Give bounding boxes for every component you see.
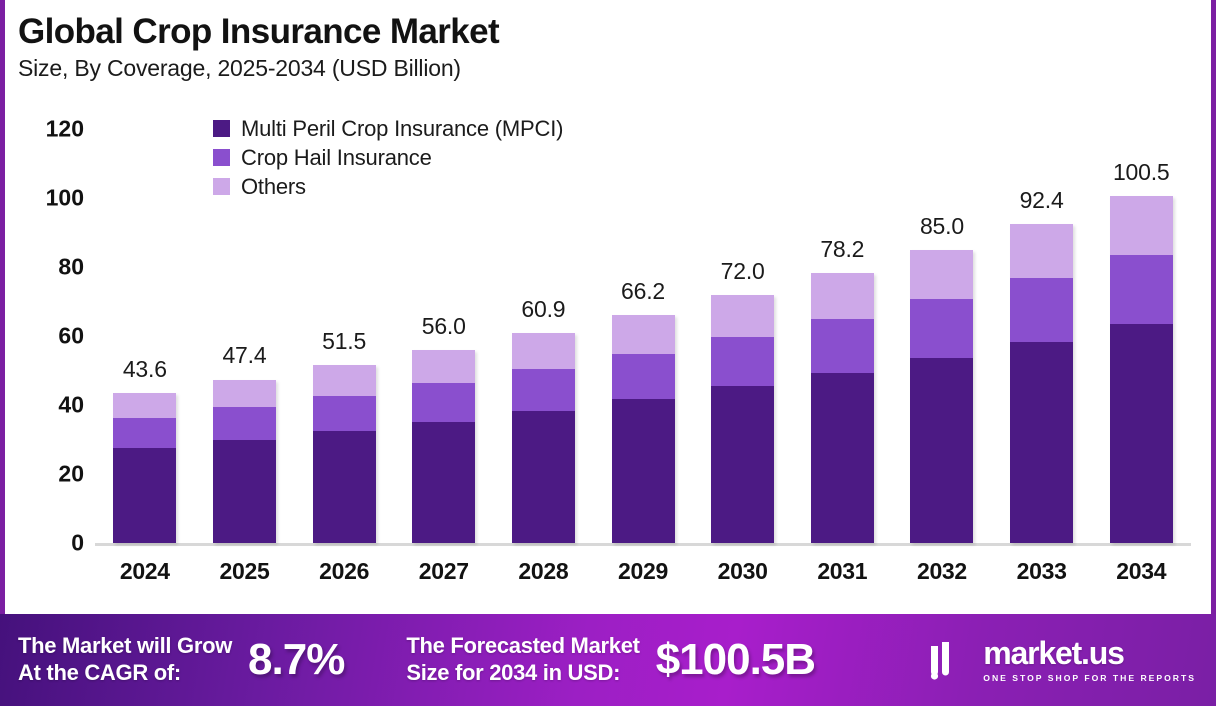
bar-segment[interactable] — [711, 386, 774, 543]
market-us-mark-icon — [927, 640, 971, 680]
x-axis-baseline — [95, 543, 1191, 546]
bar-segment[interactable] — [512, 411, 575, 543]
logo-name: market.us — [983, 637, 1196, 669]
x-axis-tick-label: 2032 — [892, 558, 992, 585]
bar-segment[interactable] — [612, 399, 675, 543]
x-axis-tick-label: 2024 — [95, 558, 195, 585]
legend-swatch-icon — [213, 178, 230, 195]
bar-total-label: 85.0 — [920, 213, 964, 240]
bar-segment[interactable] — [910, 250, 973, 299]
bar-segment[interactable] — [113, 393, 176, 419]
x-axis-labels: 2024202520262027202820292030203120322033… — [95, 558, 1191, 585]
stacked-bar[interactable] — [412, 350, 475, 543]
stacked-bar[interactable] — [910, 250, 973, 543]
bar-segment[interactable] — [612, 315, 675, 354]
bar-column[interactable]: 92.4 — [992, 129, 1092, 543]
y-axis-tick-label: 80 — [58, 254, 84, 281]
bar-column[interactable]: 85.0 — [892, 129, 992, 543]
x-axis-tick-label: 2030 — [693, 558, 793, 585]
y-axis-tick-label: 40 — [58, 392, 84, 419]
bar-segment[interactable] — [910, 358, 973, 543]
stacked-bar[interactable] — [711, 295, 774, 543]
bar-total-label: 92.4 — [1020, 187, 1064, 214]
forecast-caption-line1: The Forecasted Market — [406, 633, 639, 658]
bar-segment[interactable] — [113, 448, 176, 543]
bar-segment[interactable] — [711, 337, 774, 387]
bar-segment[interactable] — [1110, 255, 1173, 324]
bar-segment[interactable] — [1110, 324, 1173, 543]
right-accent-border — [1211, 0, 1216, 614]
legend-swatch-icon — [213, 149, 230, 166]
stacked-bar[interactable] — [512, 333, 575, 543]
x-axis-tick-label: 2025 — [195, 558, 295, 585]
x-axis-tick-label: 2027 — [394, 558, 494, 585]
bar-total-label: 51.5 — [322, 328, 366, 355]
y-axis: 120100806040200 — [24, 0, 84, 614]
footer-banner: The Market will Grow At the CAGR of: 8.7… — [0, 614, 1216, 706]
bar-segment[interactable] — [412, 383, 475, 422]
bar-segment[interactable] — [1010, 278, 1073, 342]
forecast-value: $100.5B — [656, 635, 815, 685]
forecast-block: The Forecasted Market Size for 2034 in U… — [406, 633, 815, 687]
bar-segment[interactable] — [1010, 224, 1073, 278]
stacked-bar[interactable] — [1110, 196, 1173, 543]
bar-segment[interactable] — [412, 350, 475, 383]
legend-item-label: Crop Hail Insurance — [241, 145, 432, 171]
legend-item[interactable]: Crop Hail Insurance — [213, 143, 563, 172]
bar-total-label: 72.0 — [721, 258, 765, 285]
bar-segment[interactable] — [412, 422, 475, 543]
bar-segment[interactable] — [811, 319, 874, 373]
forecast-caption: The Forecasted Market Size for 2034 in U… — [406, 633, 639, 687]
bar-segment[interactable] — [512, 369, 575, 411]
y-axis-tick-label: 0 — [71, 530, 84, 557]
bar-column[interactable]: 72.0 — [693, 129, 793, 543]
bar-segment[interactable] — [612, 354, 675, 400]
forecast-caption-line2: Size for 2034 in USD: — [406, 660, 620, 685]
x-axis-tick-label: 2031 — [792, 558, 892, 585]
bar-segment[interactable] — [313, 431, 376, 543]
market-us-logo[interactable]: market.us ONE STOP SHOP FOR THE REPORTS — [927, 637, 1196, 683]
cagr-block: The Market will Grow At the CAGR of: 8.7… — [18, 633, 344, 687]
bar-column[interactable]: 100.5 — [1091, 129, 1191, 543]
bar-segment[interactable] — [313, 396, 376, 432]
cagr-caption-line1: The Market will Grow — [18, 633, 232, 658]
bar-segment[interactable] — [711, 295, 774, 337]
bar-column[interactable]: 43.6 — [95, 129, 195, 543]
legend-item-label: Others — [241, 174, 306, 200]
chart-header: Global Crop Insurance Market Size, By Co… — [18, 14, 1198, 82]
bar-segment[interactable] — [512, 333, 575, 369]
bar-total-label: 78.2 — [820, 236, 864, 263]
bar-segment[interactable] — [811, 273, 874, 319]
y-axis-tick-label: 100 — [46, 185, 84, 212]
stacked-bar[interactable] — [313, 365, 376, 543]
bar-total-label: 47.4 — [222, 342, 266, 369]
x-axis-tick-label: 2028 — [494, 558, 594, 585]
chart-title: Global Crop Insurance Market — [18, 14, 1198, 50]
logo-text-group: market.us ONE STOP SHOP FOR THE REPORTS — [983, 637, 1196, 683]
chart-legend: Multi Peril Crop Insurance (MPCI)Crop Ha… — [213, 114, 563, 201]
bar-segment[interactable] — [910, 299, 973, 358]
legend-item[interactable]: Others — [213, 172, 563, 201]
plot-area: 120100806040200 43.647.451.556.060.966.2… — [0, 0, 1216, 614]
legend-item-label: Multi Peril Crop Insurance (MPCI) — [241, 116, 563, 142]
stacked-bar[interactable] — [1010, 224, 1073, 543]
bar-total-label: 43.6 — [123, 356, 167, 383]
x-axis-tick-label: 2033 — [992, 558, 1092, 585]
bar-segment[interactable] — [811, 373, 874, 543]
bar-segment[interactable] — [213, 407, 276, 440]
bar-segment[interactable] — [313, 365, 376, 395]
chart-infographic: Global Crop Insurance Market Size, By Co… — [0, 0, 1216, 706]
stacked-bar[interactable] — [811, 273, 874, 543]
bar-total-label: 66.2 — [621, 278, 665, 305]
x-axis-tick-label: 2026 — [294, 558, 394, 585]
stacked-bar[interactable] — [113, 393, 176, 543]
bar-total-label: 60.9 — [521, 296, 565, 323]
bar-segment[interactable] — [213, 380, 276, 408]
cagr-caption-line2: At the CAGR of: — [18, 660, 181, 685]
stacked-bar[interactable] — [612, 315, 675, 543]
legend-swatch-icon — [213, 120, 230, 137]
y-axis-tick-label: 20 — [58, 461, 84, 488]
x-axis-tick-label: 2034 — [1091, 558, 1191, 585]
left-accent-border — [0, 0, 5, 614]
y-axis-tick-label: 60 — [58, 323, 84, 350]
chart-subtitle: Size, By Coverage, 2025-2034 (USD Billio… — [18, 56, 1198, 81]
y-axis-tick-label: 120 — [46, 116, 84, 143]
bar-segment[interactable] — [1110, 196, 1173, 255]
bar-segment[interactable] — [1010, 342, 1073, 543]
legend-item[interactable]: Multi Peril Crop Insurance (MPCI) — [213, 114, 563, 143]
bar-total-label: 56.0 — [422, 313, 466, 340]
bar-column[interactable]: 78.2 — [792, 129, 892, 543]
x-axis-tick-label: 2029 — [593, 558, 693, 585]
stacked-bar[interactable] — [213, 380, 276, 544]
logo-tagline: ONE STOP SHOP FOR THE REPORTS — [983, 673, 1196, 683]
bar-total-label: 100.5 — [1113, 159, 1170, 186]
bar-column[interactable]: 66.2 — [593, 129, 693, 543]
bar-segment[interactable] — [213, 440, 276, 543]
cagr-caption: The Market will Grow At the CAGR of: — [18, 633, 232, 687]
cagr-value: 8.7% — [248, 635, 344, 685]
bar-segment[interactable] — [113, 418, 176, 448]
